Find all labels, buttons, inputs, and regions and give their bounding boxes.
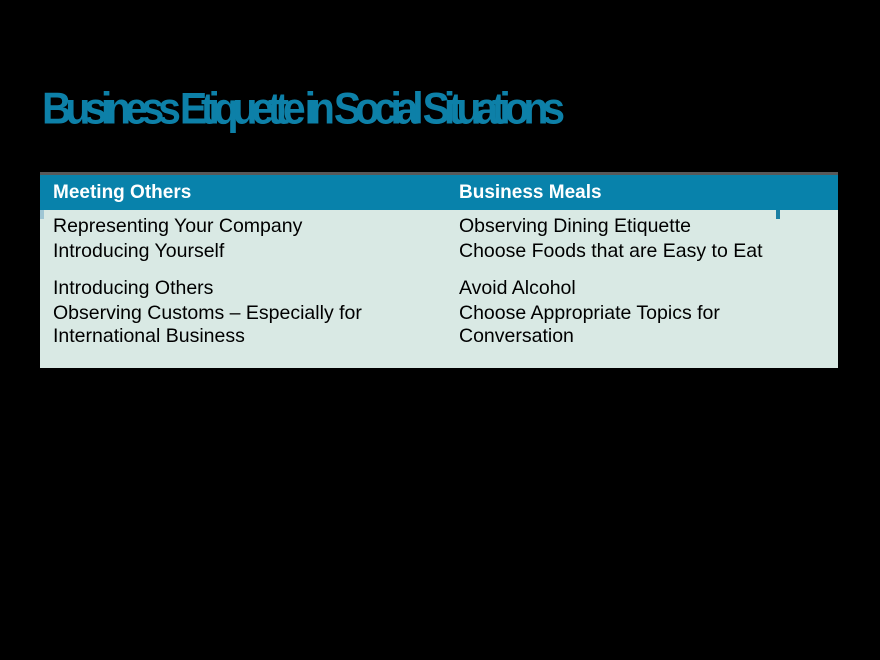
cell-meeting-others-3: Introducing Others: [40, 277, 446, 300]
table-edge-artifact-left: [40, 210, 44, 219]
cell-meeting-others-2: Introducing Yourself: [40, 240, 446, 263]
table-body: Representing Your Company Observing Dini…: [40, 215, 838, 368]
table-row: Representing Your Company Observing Dini…: [40, 215, 838, 238]
cell-meeting-others-4: Observing Customs – Especially for Inter…: [40, 302, 446, 348]
slide-canvas: Business Etiquette in Social Situations …: [0, 0, 880, 660]
cell-business-meals-3: Avoid Alcohol: [446, 277, 838, 300]
table-header-meeting-others: Meeting Others: [40, 175, 446, 210]
table-edge-artifact-right: [776, 210, 780, 219]
cell-business-meals-4: Choose Appropriate Topics for Conversati…: [446, 302, 838, 348]
table-row: Introducing Others Avoid Alcohol: [40, 277, 838, 300]
table-row: Observing Customs – Especially for Inter…: [40, 302, 838, 348]
table-header-business-meals: Business Meals: [446, 175, 838, 210]
table-row: Introducing Yourself Choose Foods that a…: [40, 240, 838, 263]
etiquette-table: Meeting Others Business Meals Representi…: [40, 172, 838, 368]
cell-meeting-others-1: Representing Your Company: [40, 215, 446, 238]
page-title: Business Etiquette in Social Situations: [42, 88, 842, 136]
cell-business-meals-2: Choose Foods that are Easy to Eat: [446, 240, 838, 263]
table-header-row: Meeting Others Business Meals: [40, 175, 838, 210]
